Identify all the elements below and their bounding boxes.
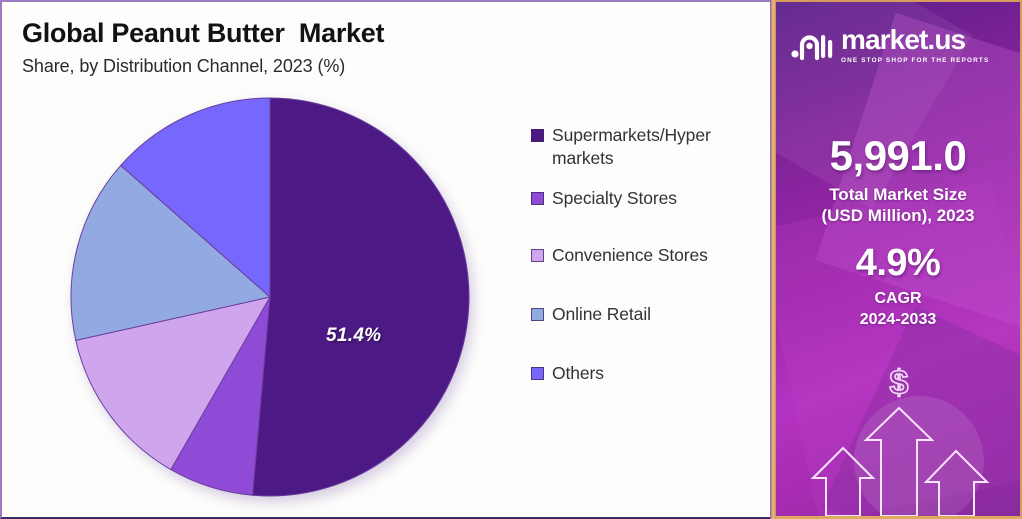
stats-block: 5,991.0 Total Market Size (USD Million),…: [776, 134, 1020, 331]
arrow-up-right-icon: [926, 451, 987, 516]
page-title: Global Peanut Butter Market: [22, 18, 742, 49]
dollar-sign-icon: $: [890, 364, 909, 402]
pie-data-label-supermarkets: 51.4%: [326, 325, 381, 347]
legend-item-label: Supermarkets/Hyper markets: [552, 124, 767, 171]
pie-slice[interactable]: [253, 98, 469, 496]
legend-swatch-icon: [531, 129, 544, 142]
legend-item-specialty-stores[interactable]: Specialty Stores: [531, 187, 767, 210]
stats-panel: market.us ONE STOP SHOP FOR THE REPORTS …: [776, 0, 1022, 519]
cagr-value: 4.9%: [776, 244, 1020, 284]
pie-slice-group: [71, 98, 469, 496]
cagr-period: 2024-2033: [776, 310, 1020, 331]
legend-swatch-icon: [531, 308, 544, 321]
market-size-value: 5,991.0: [776, 134, 1020, 178]
title-block: Global Peanut Butter Market Share, by Di…: [22, 18, 742, 78]
legend-swatch-icon: [531, 249, 544, 262]
legend-item-supermarkets[interactable]: Supermarkets/Hyper markets: [531, 124, 767, 171]
logo-tagline: ONE STOP SHOP FOR THE REPORTS: [841, 57, 989, 64]
legend-item-label: Online Retail: [552, 303, 651, 326]
infographic-root: Global Peanut Butter Market Share, by Di…: [0, 0, 1022, 519]
chart-panel: Global Peanut Butter Market Share, by Di…: [0, 0, 770, 519]
legend-swatch-icon: [531, 192, 544, 205]
legend-item-label: Specialty Stores: [552, 187, 677, 210]
pie-chart: 51.4%: [70, 97, 474, 501]
market-size-caption-line1: Total Market Size: [829, 185, 967, 204]
market-size-caption: Total Market Size (USD Million), 2023: [776, 184, 1020, 227]
market-size-caption-line2: (USD Million), 2023: [821, 206, 974, 225]
page-subtitle: Share, by Distribution Channel, 2023 (%): [22, 56, 742, 78]
legend-item-convenience-stores[interactable]: Convenience Stores: [531, 244, 767, 267]
market-us-logo-icon: [790, 27, 834, 63]
pie-chart-svg: [70, 97, 474, 501]
cagr-caption: CAGR: [776, 289, 1020, 310]
growth-arrows-graphic: $: [776, 356, 1022, 516]
brand-logo[interactable]: market.us ONE STOP SHOP FOR THE REPORTS: [790, 26, 989, 64]
legend-item-others[interactable]: Others: [531, 362, 767, 385]
legend-item-label: Convenience Stores: [552, 244, 708, 267]
legend-swatch-icon: [531, 367, 544, 380]
legend-item-online-retail[interactable]: Online Retail: [531, 303, 767, 326]
legend-item-label: Others: [552, 362, 604, 385]
logo-wordmark: market.us: [841, 26, 989, 54]
arrow-up-center-icon: [866, 408, 932, 516]
chart-legend: Supermarkets/Hyper markets Specialty Sto…: [531, 124, 767, 402]
logo-text-block: market.us ONE STOP SHOP FOR THE REPORTS: [841, 26, 989, 64]
arrow-up-left-icon: [813, 448, 873, 516]
